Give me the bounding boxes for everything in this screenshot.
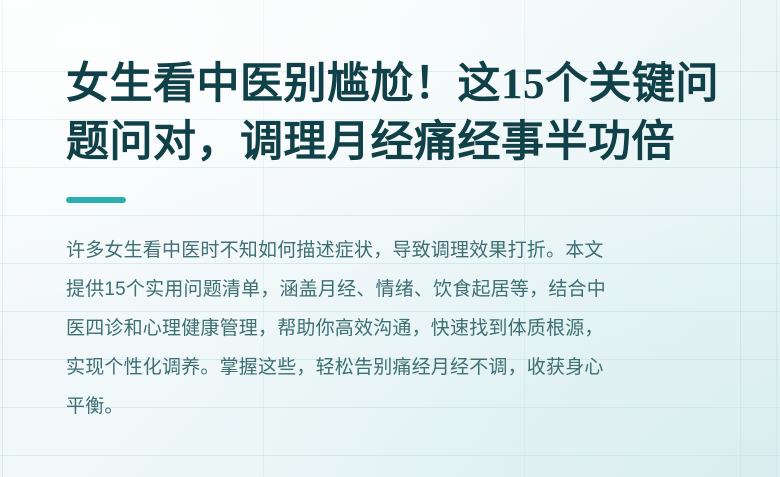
cover-content: 女生看中医别尴尬！这15个关键问 题问对，调理月经痛经事半功倍 许多女生看中医时… bbox=[66, 0, 714, 477]
page-title-line: 女生看中医别尴尬！这15个关键问 bbox=[66, 56, 712, 114]
page-title: 女生看中医别尴尬！这15个关键问 题问对，调理月经痛经事半功倍 bbox=[66, 56, 712, 172]
summary-line: 医四诊和心理健康管理，帮助你高效沟通，快速找到体质根源， bbox=[66, 309, 712, 348]
article-cover-card: 女生看中医别尴尬！这15个关键问 题问对，调理月经痛经事半功倍 许多女生看中医时… bbox=[0, 0, 780, 477]
summary-line: 实现个性化调养。掌握这些，轻松告别痛经月经不调，收获身心 bbox=[66, 348, 712, 387]
article-summary: 许多女生看中医时不知如何描述症状，导致调理效果打折。本文 提供15个实用问题清单… bbox=[66, 231, 712, 426]
gridline-vertical bbox=[776, 0, 777, 477]
gridline-vertical bbox=[2, 0, 3, 477]
summary-line: 平衡。 bbox=[66, 387, 712, 426]
gridline-vertical bbox=[740, 0, 741, 477]
page-title-line: 题问对，调理月经痛经事半功倍 bbox=[66, 114, 712, 172]
accent-divider-bar bbox=[66, 197, 126, 203]
summary-line: 许多女生看中医时不知如何描述症状，导致调理效果打折。本文 bbox=[66, 231, 712, 270]
summary-line: 提供15个实用问题清单，涵盖月经、情绪、饮食起居等，结合中 bbox=[66, 270, 712, 309]
